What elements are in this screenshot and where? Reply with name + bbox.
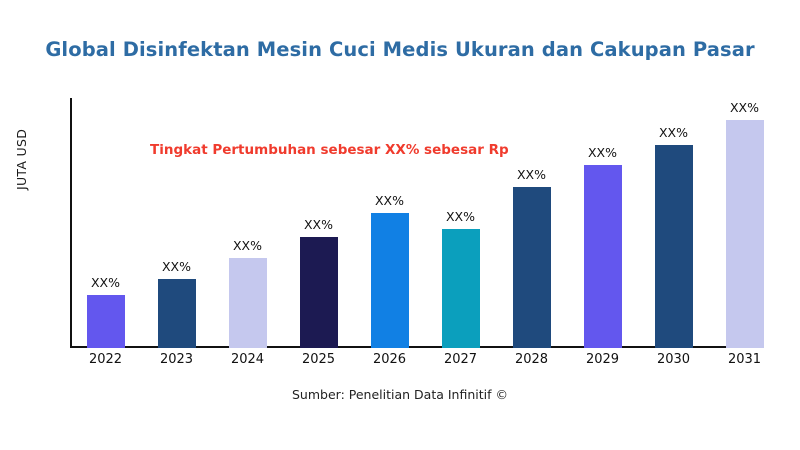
- bar-group[interactable]: XX%: [496, 98, 567, 348]
- bar-value-label: XX%: [91, 275, 120, 290]
- bar-group[interactable]: XX%: [70, 98, 141, 348]
- bar-value-label: XX%: [517, 167, 546, 182]
- bar[interactable]: [300, 237, 338, 348]
- bar-group[interactable]: XX%: [283, 98, 354, 348]
- x-tick-label: 2030: [638, 352, 709, 367]
- bar-value-label: XX%: [730, 100, 759, 115]
- bar[interactable]: [655, 145, 693, 348]
- bar[interactable]: [726, 120, 764, 348]
- bar[interactable]: [513, 187, 551, 348]
- bar-value-label: XX%: [446, 209, 475, 224]
- x-tick-label: 2029: [567, 352, 638, 367]
- bar-value-label: XX%: [588, 145, 617, 160]
- bar-group[interactable]: XX%: [212, 98, 283, 348]
- x-tick-label: 2023: [141, 352, 212, 367]
- x-axis-ticks: 2022202320242025202620272028202920302031: [70, 352, 782, 376]
- x-tick-label: 2031: [709, 352, 780, 367]
- bar[interactable]: [371, 213, 409, 348]
- bar-group[interactable]: XX%: [709, 98, 780, 348]
- bar[interactable]: [229, 258, 267, 348]
- x-tick-label: 2028: [496, 352, 567, 367]
- bar-group[interactable]: XX%: [354, 98, 425, 348]
- bar[interactable]: [442, 229, 480, 348]
- x-tick-label: 2025: [283, 352, 354, 367]
- bar[interactable]: [584, 165, 622, 348]
- bar-value-label: XX%: [304, 217, 333, 232]
- bar-group[interactable]: XX%: [638, 98, 709, 348]
- bar-group[interactable]: XX%: [141, 98, 212, 348]
- source-note: Sumber: Penelitian Data Infinitif ©: [0, 387, 800, 402]
- bars-layer: XX%XX%XX%XX%XX%XX%XX%XX%XX%XX%: [70, 98, 782, 348]
- x-tick-label: 2026: [354, 352, 425, 367]
- x-tick-label: 2024: [212, 352, 283, 367]
- bar-value-label: XX%: [162, 259, 191, 274]
- bar-group[interactable]: XX%: [567, 98, 638, 348]
- bar-value-label: XX%: [375, 193, 404, 208]
- bar[interactable]: [87, 295, 125, 348]
- bar-group[interactable]: XX%: [425, 98, 496, 348]
- bar-value-label: XX%: [659, 125, 688, 140]
- y-axis-label: JUTA USD: [14, 60, 29, 190]
- x-tick-label: 2022: [70, 352, 141, 367]
- chart-title: Global Disinfektan Mesin Cuci Medis Ukur…: [0, 38, 800, 61]
- bar-chart: Global Disinfektan Mesin Cuci Medis Ukur…: [0, 0, 800, 450]
- x-tick-label: 2027: [425, 352, 496, 367]
- bar-value-label: XX%: [233, 238, 262, 253]
- bar[interactable]: [158, 279, 196, 348]
